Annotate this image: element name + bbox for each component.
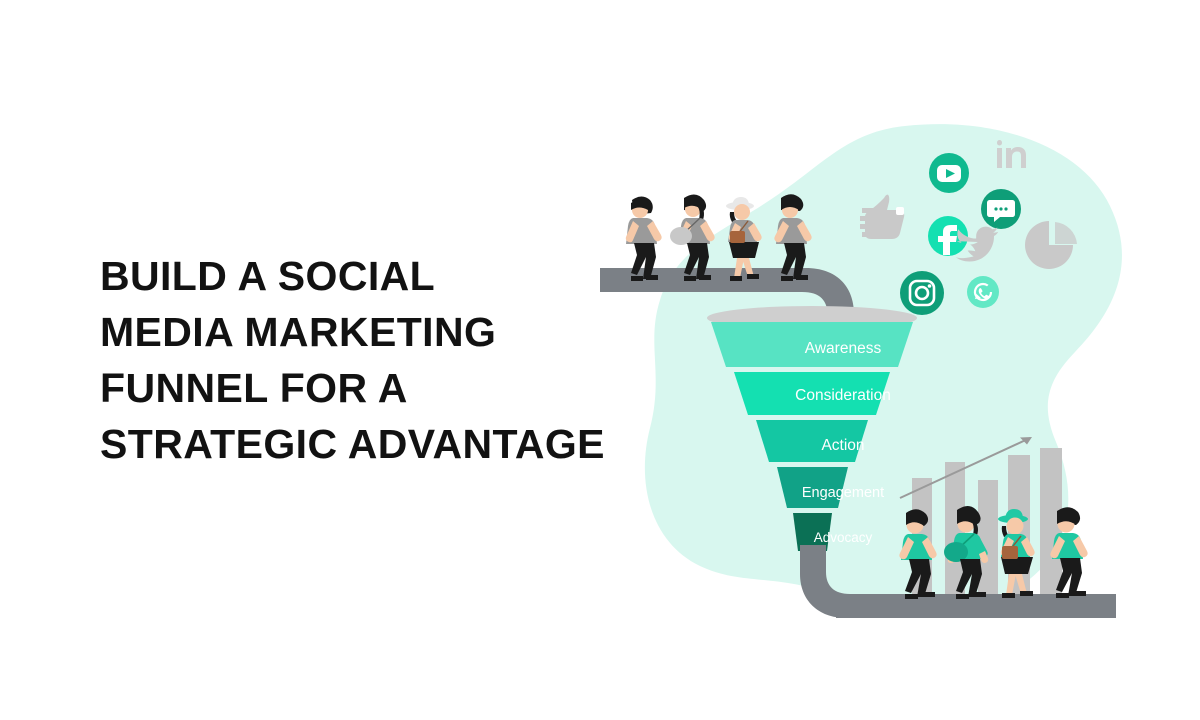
instagram-icon[interactable]: [900, 271, 944, 315]
whatsapp-icon[interactable]: [967, 276, 999, 308]
chat-bubble-icon[interactable]: [981, 189, 1021, 229]
funnel-stage-consideration-label: Consideration: [795, 387, 891, 404]
funnel-stage-action[interactable]: Action: [756, 420, 868, 462]
funnel-stage-engagement-label: Engagement: [802, 485, 884, 501]
funnel-stage-awareness-label: Awareness: [805, 340, 882, 357]
funnel-stage-awareness[interactable]: Awareness: [711, 322, 913, 367]
funnel-stage-consideration[interactable]: Consideration: [734, 372, 891, 415]
youtube-icon[interactable]: [929, 153, 969, 193]
funnel-stage-advocacy-label: Advocacy: [814, 530, 873, 545]
funnel-illustration: Awareness Consideration Action Engagemen…: [0, 0, 1200, 720]
poster-canvas: BUILD A SOCIAL MEDIA MARKETING FUNNEL FO…: [0, 0, 1200, 720]
funnel-stage-action-label: Action: [821, 437, 864, 454]
